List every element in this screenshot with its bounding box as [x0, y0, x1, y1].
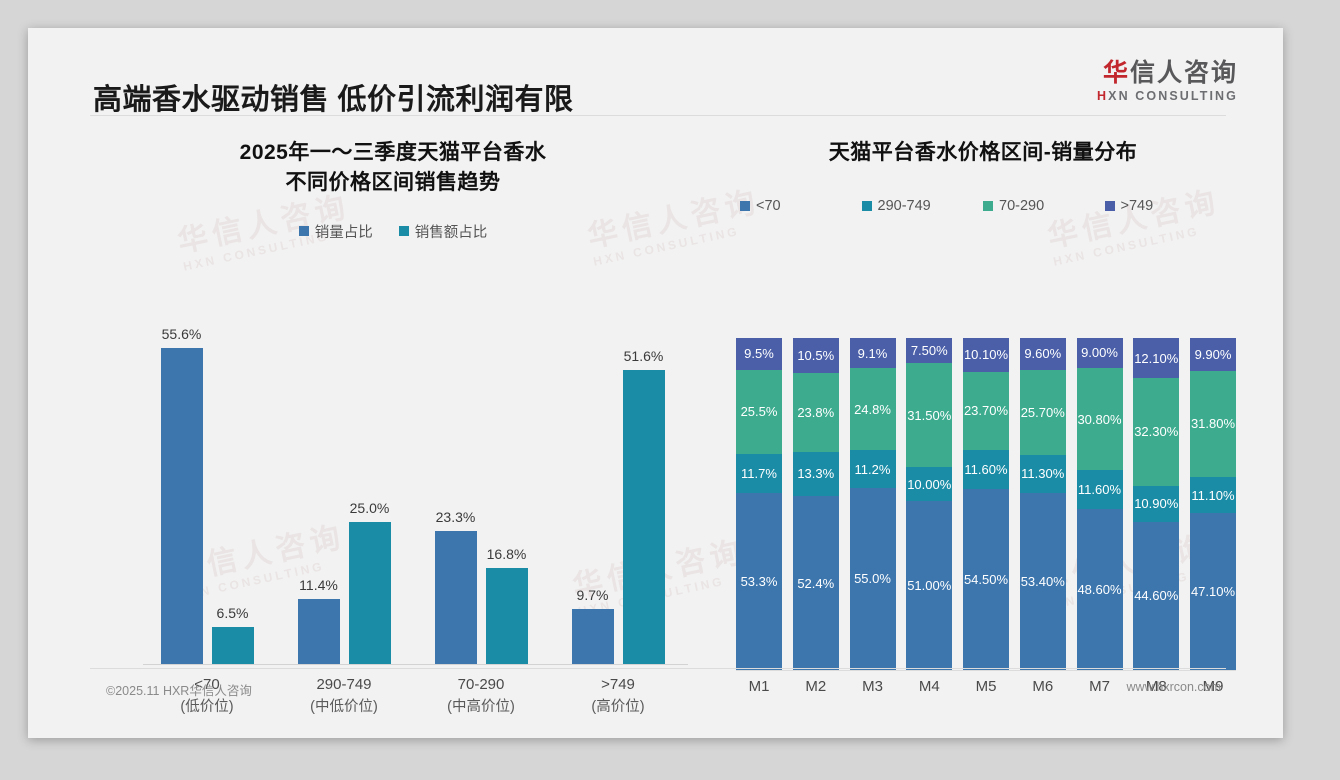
- stacked-bar-segment[interactable]: 31.80%: [1190, 371, 1236, 477]
- left-chart-title: 2025年一～三季度天猫平台香水 不同价格区间销售趋势: [83, 138, 703, 199]
- bar[interactable]: [435, 531, 477, 664]
- stacked-bar-segment[interactable]: 11.30%: [1020, 455, 1066, 493]
- segment-value-label: 9.5%: [744, 346, 774, 361]
- stacked-bar-segment[interactable]: 31.50%: [906, 363, 952, 468]
- bar-column: 55.6%: [161, 334, 203, 664]
- logo-chars-rest: 信人咨询: [1130, 59, 1238, 87]
- legend-item-over-749[interactable]: >749: [1105, 198, 1227, 214]
- stacked-bar-segment[interactable]: 44.60%: [1133, 522, 1179, 670]
- legend-swatch-icon: [862, 201, 872, 211]
- stacked-bar-segment[interactable]: 9.60%: [1020, 338, 1066, 370]
- right-chart-x-axis: [736, 670, 1236, 671]
- bar-value-label: 55.6%: [162, 326, 202, 342]
- logo-chinese-text: 华信人咨询: [1097, 60, 1238, 86]
- stacked-bar-segment[interactable]: 23.70%: [963, 372, 1009, 451]
- stacked-bar-segment[interactable]: 10.00%: [906, 467, 952, 500]
- stacked-bar-segment[interactable]: 11.60%: [1077, 470, 1123, 509]
- segment-value-label: 10.5%: [797, 348, 834, 363]
- bar-column: 9.7%: [572, 334, 614, 664]
- segment-value-label: 53.40%: [1021, 574, 1065, 589]
- legend-label: 销量占比: [315, 221, 373, 242]
- segment-value-label: 25.70%: [1021, 405, 1065, 420]
- bar-group: 55.6%6.5%: [151, 334, 263, 664]
- legend-swatch-icon: [299, 226, 309, 236]
- bar[interactable]: [623, 370, 665, 664]
- bar[interactable]: [486, 568, 528, 664]
- segment-value-label: 32.30%: [1134, 424, 1178, 439]
- logo-english-text: HXN CONSULTING: [1097, 89, 1238, 103]
- stacked-bar-segment[interactable]: 11.2%: [850, 450, 896, 487]
- stacked-bar-segment[interactable]: 30.80%: [1077, 368, 1123, 470]
- page-title: 高端香水驱动销售 低价引流利润有限: [93, 76, 574, 118]
- left-chart-plot-area: 55.6%6.5%11.4%25.0%23.3%16.8%9.7%51.6%: [143, 334, 688, 664]
- segment-value-label: 51.00%: [907, 578, 951, 593]
- left-chart-x-axis: [143, 664, 688, 665]
- segment-value-label: 23.70%: [964, 403, 1008, 418]
- legend-item-sales-amount[interactable]: 销售额占比: [399, 221, 488, 242]
- segment-value-label: 54.50%: [964, 572, 1008, 587]
- bar-column: 23.3%: [435, 334, 477, 664]
- legend-swatch-icon: [399, 226, 409, 236]
- stacked-bar-column: 44.60%10.90%32.30%12.10%: [1133, 338, 1179, 670]
- footer-website[interactable]: www.hxrcon.com: [1127, 680, 1221, 694]
- x-axis-range: 290-749: [316, 676, 371, 693]
- x-axis-month-label: M5: [963, 678, 1009, 695]
- segment-value-label: 10.00%: [907, 477, 951, 492]
- bar-value-label: 11.4%: [299, 577, 338, 593]
- x-axis-range: >749: [601, 676, 635, 693]
- stacked-bar-segment[interactable]: 11.60%: [963, 450, 1009, 489]
- x-axis-month-label: M2: [793, 678, 839, 695]
- segment-value-label: 12.10%: [1134, 351, 1178, 366]
- bar[interactable]: [572, 609, 614, 664]
- segment-value-label: 44.60%: [1134, 588, 1178, 603]
- stacked-bar-column: 48.60%11.60%30.80%9.00%: [1077, 338, 1123, 670]
- slide-canvas: 华信人咨询 HXN CONSULTING 华信人咨询 HXN CONSULTIN…: [28, 28, 1283, 738]
- stacked-bar-segment[interactable]: 12.10%: [1133, 338, 1179, 378]
- bar-value-label: 23.3%: [436, 509, 476, 525]
- segment-value-label: 52.4%: [797, 576, 834, 591]
- x-axis-month-label: M7: [1077, 678, 1123, 695]
- bar-value-label: 6.5%: [217, 605, 249, 621]
- segment-value-label: 7.50%: [911, 343, 948, 358]
- legend-label: 290-749: [878, 198, 931, 214]
- x-axis-category-label: 290-749(中低价位): [288, 674, 400, 718]
- segment-value-label: 48.60%: [1077, 582, 1121, 597]
- legend-item-290-749[interactable]: 290-749: [862, 198, 984, 214]
- segment-value-label: 11.7%: [741, 466, 777, 481]
- legend-item-under-70[interactable]: <70: [740, 198, 862, 214]
- x-axis-range-desc: (高价位): [562, 697, 674, 719]
- stacked-bar-segment[interactable]: 32.30%: [1133, 378, 1179, 485]
- x-axis-range-desc: (中低价位): [288, 697, 400, 719]
- right-chart-legend: <70 290-749 70-290 >749: [718, 198, 1248, 214]
- segment-value-label: 31.80%: [1191, 416, 1235, 431]
- brand-logo: 华信人咨询 HXN CONSULTING: [1097, 60, 1238, 103]
- bar-column: 51.6%: [623, 334, 665, 664]
- bar-column: 6.5%: [212, 334, 254, 664]
- slide-header: 高端香水驱动销售 低价引流利润有限 华信人咨询 HXN CONSULTING: [28, 28, 1283, 116]
- left-chart-panel: 2025年一～三季度天猫平台香水 不同价格区间销售趋势 销量占比 销售额占比 5…: [83, 138, 703, 698]
- x-axis-month-label: M4: [906, 678, 952, 695]
- bar-group: 9.7%51.6%: [562, 334, 674, 664]
- stacked-bar-segment[interactable]: 52.4%: [793, 496, 839, 670]
- segment-value-label: 23.8%: [797, 405, 834, 420]
- right-chart-plot-area: 53.3%11.7%25.5%9.5%52.4%13.3%23.8%10.5%5…: [736, 338, 1236, 670]
- bar-group: 11.4%25.0%: [288, 334, 400, 664]
- stacked-bar-segment[interactable]: 10.10%: [963, 338, 1009, 372]
- stacked-bar-segment[interactable]: 25.70%: [1020, 370, 1066, 455]
- legend-label: >749: [1121, 198, 1154, 214]
- stacked-bar-segment[interactable]: 9.00%: [1077, 338, 1123, 368]
- x-axis-month-label: M1: [736, 678, 782, 695]
- bar-value-label: 51.6%: [624, 348, 664, 364]
- stacked-bar-segment[interactable]: 53.40%: [1020, 493, 1066, 670]
- segment-value-label: 53.3%: [741, 574, 778, 589]
- stacked-bar-segment[interactable]: 10.5%: [793, 338, 839, 373]
- segment-value-label: 9.00%: [1081, 345, 1118, 360]
- stacked-bar-segment[interactable]: 24.8%: [850, 368, 896, 450]
- stacked-bar-segment[interactable]: 48.60%: [1077, 509, 1123, 670]
- x-axis-category-label: >749(高价位): [562, 674, 674, 718]
- stacked-bar-column: 47.10%11.10%31.80%9.90%: [1190, 338, 1236, 670]
- legend-swatch-icon: [740, 201, 750, 211]
- footer-divider: [90, 668, 1226, 669]
- legend-label: 70-290: [999, 198, 1044, 214]
- stacked-bar-column: 54.50%11.60%23.70%10.10%: [963, 338, 1009, 670]
- stacked-bar-segment[interactable]: 55.0%: [850, 488, 896, 670]
- x-axis-range-desc: (低价位): [151, 697, 263, 719]
- stacked-bar-column: 55.0%11.2%24.8%9.1%: [850, 338, 896, 670]
- right-chart-title: 天猫平台香水价格区间-销量分布: [718, 138, 1248, 168]
- bar[interactable]: [212, 627, 254, 664]
- segment-value-label: 9.1%: [858, 346, 888, 361]
- stacked-bar-segment[interactable]: 10.90%: [1133, 486, 1179, 522]
- x-axis-month-label: M3: [850, 678, 896, 695]
- x-axis-month-label: M6: [1020, 678, 1066, 695]
- bar-value-label: 25.0%: [350, 500, 390, 516]
- stacked-bar-column: 52.4%13.3%23.8%10.5%: [793, 338, 839, 670]
- bar-column: 16.8%: [486, 334, 528, 664]
- legend-swatch-icon: [1105, 201, 1115, 211]
- stacked-bar-segment[interactable]: 47.10%: [1190, 513, 1236, 670]
- segment-value-label: 11.2%: [855, 462, 891, 477]
- segment-value-label: 11.30%: [1021, 466, 1064, 481]
- segment-value-label: 30.80%: [1077, 412, 1121, 427]
- stacked-bar-segment[interactable]: 51.00%: [906, 501, 952, 670]
- stacked-bar-segment[interactable]: 9.5%: [736, 338, 782, 370]
- left-chart-title-line2: 不同价格区间销售趋势: [83, 168, 703, 198]
- bar[interactable]: [349, 522, 391, 664]
- segment-value-label: 31.50%: [907, 408, 951, 423]
- segment-value-label: 9.60%: [1024, 346, 1061, 361]
- segment-value-label: 47.10%: [1191, 584, 1235, 599]
- segment-value-label: 24.8%: [854, 402, 891, 417]
- legend-item-70-290[interactable]: 70-290: [983, 198, 1105, 214]
- bar-value-label: 16.8%: [487, 546, 527, 562]
- bar-group: 23.3%16.8%: [425, 334, 537, 664]
- footer-copyright: ©2025.11 HXR华信人咨询: [106, 680, 252, 699]
- logo-en-rest: XN CONSULTING: [1108, 89, 1238, 103]
- stacked-bar-segment[interactable]: 53.3%: [736, 493, 782, 670]
- segment-value-label: 55.0%: [854, 571, 891, 586]
- segment-value-label: 11.10%: [1191, 488, 1234, 503]
- x-axis-range: 70-290: [458, 676, 505, 693]
- segment-value-label: 9.90%: [1195, 347, 1232, 362]
- stacked-bar-segment[interactable]: 11.7%: [736, 454, 782, 493]
- segment-value-label: 10.90%: [1134, 496, 1178, 511]
- stacked-bar-column: 53.3%11.7%25.5%9.5%: [736, 338, 782, 670]
- segment-value-label: 10.10%: [964, 347, 1008, 362]
- stacked-bar-segment[interactable]: 54.50%: [963, 489, 1009, 670]
- segment-value-label: 11.60%: [1078, 482, 1121, 497]
- bar[interactable]: [298, 599, 340, 664]
- stacked-bar-segment[interactable]: 11.10%: [1190, 477, 1236, 514]
- header-divider: [90, 115, 1226, 116]
- stacked-bar-segment[interactable]: 13.3%: [793, 452, 839, 496]
- stacked-bar-segment[interactable]: 23.8%: [793, 373, 839, 452]
- left-chart-title-line1: 2025年一～三季度天猫平台香水: [83, 138, 703, 168]
- segment-value-label: 13.3%: [797, 466, 834, 481]
- right-chart-panel: 天猫平台香水价格区间-销量分布 <70 290-749 70-290 >749 …: [718, 138, 1248, 698]
- legend-item-sales-volume[interactable]: 销量占比: [299, 221, 373, 242]
- logo-en-initial: H: [1097, 89, 1108, 103]
- bar-value-label: 9.7%: [577, 587, 609, 603]
- stacked-bar-segment[interactable]: 7.50%: [906, 338, 952, 363]
- stacked-bar-segment[interactable]: 25.5%: [736, 370, 782, 455]
- logo-char-hua: 华: [1103, 59, 1130, 87]
- legend-swatch-icon: [983, 201, 993, 211]
- stacked-bar-column: 51.00%10.00%31.50%7.50%: [906, 338, 952, 670]
- left-chart-legend: 销量占比 销售额占比: [83, 221, 703, 242]
- segment-value-label: 11.60%: [964, 462, 1007, 477]
- legend-label: 销售额占比: [415, 221, 488, 242]
- stacked-bar-segment[interactable]: 9.1%: [850, 338, 896, 368]
- segment-value-label: 25.5%: [741, 404, 778, 419]
- x-axis-category-label: 70-290(中高价位): [425, 674, 537, 718]
- bar-column: 25.0%: [349, 334, 391, 664]
- stacked-bar-segment[interactable]: 9.90%: [1190, 338, 1236, 371]
- bar[interactable]: [161, 348, 203, 664]
- bar-column: 11.4%: [298, 334, 340, 664]
- x-axis-range-desc: (中高价位): [425, 697, 537, 719]
- stacked-bar-column: 53.40%11.30%25.70%9.60%: [1020, 338, 1066, 670]
- legend-label: <70: [756, 198, 781, 214]
